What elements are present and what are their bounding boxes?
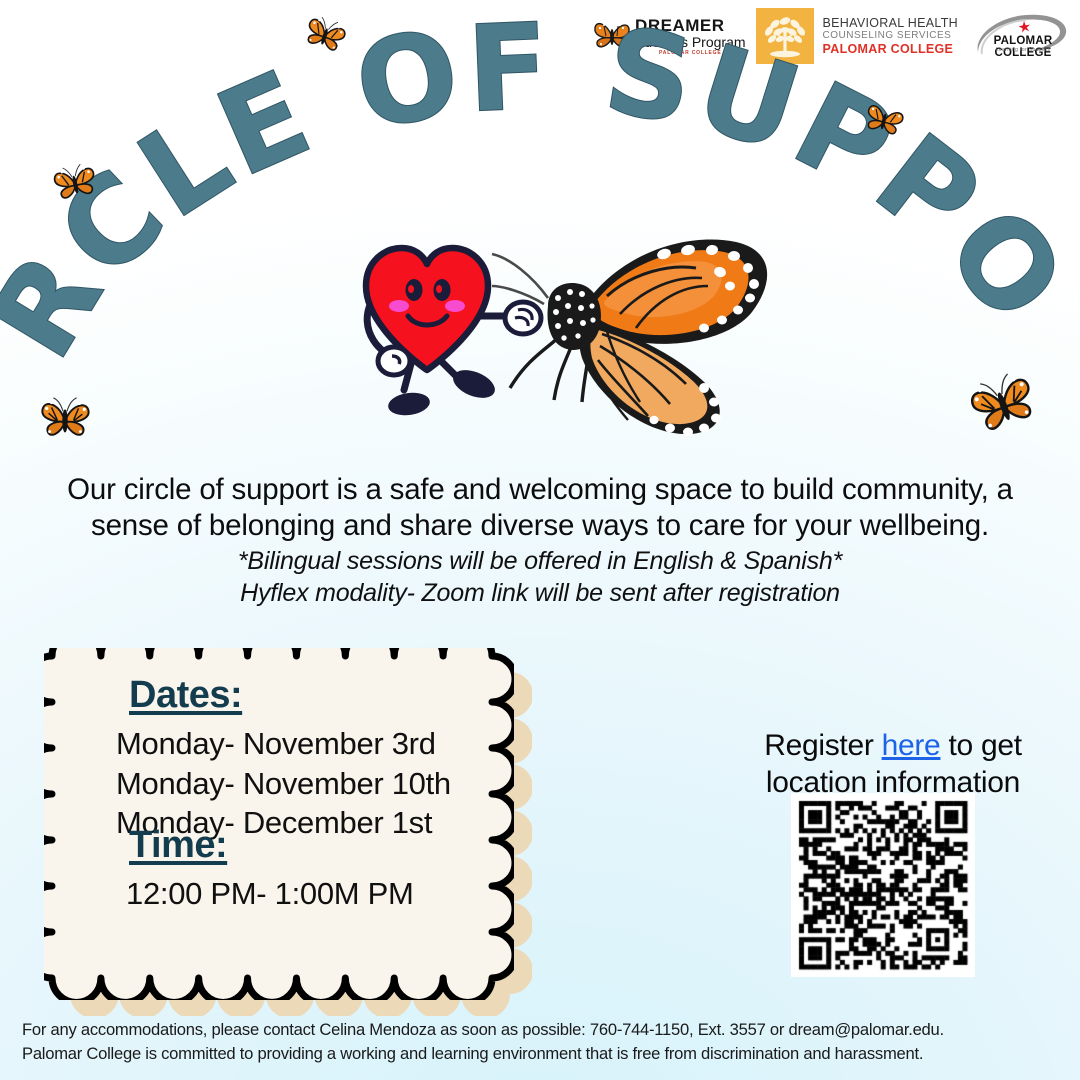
date-item: Monday- November 10th: [116, 764, 451, 804]
monarch-butterfly-large-icon: [492, 240, 767, 437]
qr-code[interactable]: [791, 793, 975, 977]
heart-and-butterfly-illustration: [352, 228, 782, 448]
register-before-text: Register: [764, 729, 881, 762]
butterfly-left-lower-icon: [33, 392, 97, 446]
footer-disclaimer: For any accommodations, please contact C…: [22, 1018, 1064, 1065]
register-after-text: to get: [940, 729, 1021, 762]
dates-label: Dates:: [129, 674, 242, 717]
note-line-1: *Bilingual sessions will be offered in E…: [60, 545, 1020, 577]
register-callout: Register here to get location informatio…: [718, 728, 1068, 801]
dates-time-card: Dates: Monday- November 3rd Monday- Nove…: [44, 648, 514, 1000]
intro-paragraph: Our circle of support is a safe and welc…: [40, 472, 1040, 544]
heart-character-icon: [366, 248, 541, 418]
date-item: Monday- November 3rd: [116, 724, 451, 764]
note-line-2: Hyflex modality- Zoom link will be sent …: [60, 577, 1020, 609]
footer-line-2: Palomar College is committed to providin…: [22, 1042, 1064, 1066]
time-label: Time:: [129, 824, 227, 867]
intro-line-2: sense of belonging and share diverse way…: [40, 508, 1040, 544]
time-value: 12:00 PM- 1:00M PM: [126, 876, 414, 912]
intro-line-1: Our circle of support is a safe and welc…: [40, 472, 1040, 508]
footer-line-1: For any accommodations, please contact C…: [22, 1018, 1064, 1042]
register-here-link[interactable]: here: [882, 729, 941, 762]
poster-canvas: DREAMER Success Program PALOMAR COLLEGE: [0, 0, 1080, 1080]
session-note: *Bilingual sessions will be offered in E…: [60, 545, 1020, 609]
